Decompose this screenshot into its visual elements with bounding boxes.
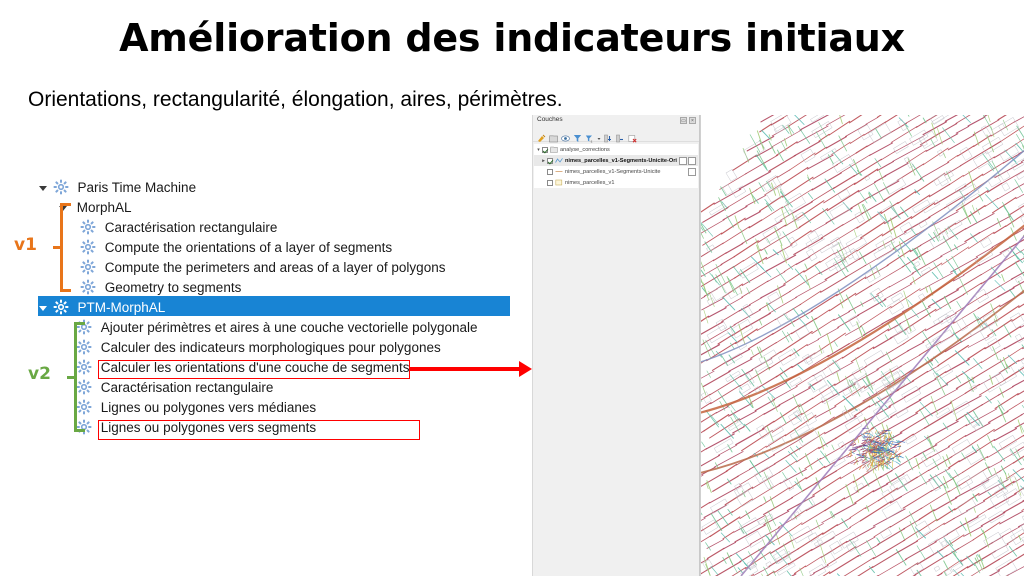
v2-bracket-top-cap — [74, 322, 85, 325]
layer-label: nimes_parcelles_v1-Segments-Unicite — [565, 169, 660, 175]
slide: Amélioration des indicateurs initiaux Or… — [0, 0, 1024, 576]
remove-layer-icon[interactable] — [628, 130, 637, 139]
gear-icon — [80, 279, 96, 295]
chevron-down-icon[interactable]: ▾ — [535, 147, 542, 153]
highlight-box-calculer-orientations — [98, 360, 410, 379]
layer-row-trailing-boxes[interactable] — [679, 157, 698, 165]
gear-icon — [53, 299, 69, 315]
chevron-right-icon[interactable]: ▸ — [540, 158, 547, 164]
layer-row-segments-unicite[interactable]: nimes_parcelles_v1-Segments-Unicite — [534, 166, 698, 177]
tree-item-compute-perimeters-areas-v1[interactable]: Compute the perimeters and areas of a la… — [0, 258, 530, 278]
layers-tree[interactable]: ▾ analyse_corrections ▸ nimes_parcelles_… — [534, 144, 698, 188]
expand-all-icon[interactable] — [604, 130, 613, 139]
filter-legend-icon[interactable] — [573, 130, 582, 139]
tree-item-compute-orientations-v1[interactable]: Compute the orientations of a layer of s… — [0, 238, 530, 258]
layer-visibility-checkbox[interactable] — [542, 147, 548, 153]
qgis-window: Couches ▭ × — [532, 115, 1024, 576]
tree-item-label: Compute the perimeters and areas of a la… — [105, 258, 446, 278]
v2-bracket-bottom-cap — [74, 429, 85, 432]
highlight-box-lignes-vers-segments — [98, 420, 420, 440]
layer-label: nimes_parcelles_v1 — [565, 180, 614, 186]
pointer-arrow-line — [410, 367, 522, 371]
layer-visibility-checkbox[interactable] — [547, 169, 553, 175]
float-panel-button[interactable]: ▭ — [680, 117, 687, 124]
gear-icon — [76, 339, 92, 355]
gear-icon — [76, 399, 92, 415]
map-canvas[interactable] — [700, 115, 1024, 576]
gear-icon — [76, 359, 92, 375]
pointer-arrow-head — [519, 361, 532, 377]
tree-item-paris-time-machine[interactable]: Paris Time Machine — [0, 178, 530, 198]
line-layer-icon — [555, 157, 563, 164]
polygon-layer-icon — [555, 179, 563, 186]
tree-item-label: PTM-MorphAL — [78, 298, 166, 318]
processing-toolbox-tree: Paris Time Machine MorphAL Caractérisati… — [0, 178, 530, 438]
v1-label: v1 — [14, 235, 37, 255]
layer-visibility-checkbox[interactable] — [547, 158, 553, 164]
layer-row-segments-unicite-orientation[interactable]: ▸ nimes_parcelles_v1-Segments-Unicite-Or… — [534, 155, 698, 166]
chevron-down-icon[interactable] — [38, 298, 49, 318]
gear-icon — [76, 419, 92, 435]
layers-panel: Couches ▭ × — [532, 115, 700, 576]
tree-item-label: Paris Time Machine — [78, 178, 197, 198]
styling-panel-icon[interactable] — [537, 130, 546, 139]
tree-item-label: Caractérisation rectangulaire — [101, 378, 274, 398]
chevron-down-icon[interactable] — [597, 130, 601, 139]
page-title: Amélioration des indicateurs initiaux — [0, 16, 1024, 60]
gear-icon — [80, 259, 96, 275]
layer-row-analyse-corrections[interactable]: ▾ analyse_corrections — [534, 144, 698, 155]
tree-item-geometry-to-segments-v1[interactable]: Geometry to segments — [0, 278, 530, 298]
tree-item-label: Compute the orientations of a layer of s… — [105, 238, 392, 258]
v1-bracket-bottom-cap — [60, 289, 71, 292]
gear-icon — [76, 379, 92, 395]
layer-visibility-checkbox[interactable] — [547, 180, 553, 186]
expression-filter-icon[interactable]: ε — [585, 130, 594, 139]
v1-bracket-tick — [53, 246, 61, 249]
layer-row-nimes-parcelles-v1[interactable]: nimes_parcelles_v1 — [534, 177, 698, 188]
tree-item-calculer-indicateurs-morphologiques[interactable]: Calculer des indicateurs morphologiques … — [0, 338, 530, 358]
svg-text:ε: ε — [591, 138, 593, 143]
layers-panel-title: Couches — [537, 116, 563, 123]
cadastral-parcels-orientation-map — [701, 115, 1024, 576]
tree-item-lignes-polygones-vers-medianes[interactable]: Lignes ou polygones vers médianes — [0, 398, 530, 418]
layers-panel-header: Couches ▭ × — [533, 115, 699, 128]
tree-item-label: MorphAL — [77, 198, 132, 218]
layer-row-trailing-boxes[interactable] — [688, 168, 698, 176]
tree-item-label: Calculer des indicateurs morphologiques … — [101, 338, 441, 358]
tree-item-caracterisation-rectangulaire-v1[interactable]: Caractérisation rectangulaire — [0, 218, 530, 238]
gear-icon — [80, 219, 96, 235]
tree-item-label: Lignes ou polygones vers médianes — [101, 398, 316, 418]
tree-item-label: Caractérisation rectangulaire — [105, 218, 278, 238]
v1-bracket-top-cap — [60, 203, 71, 206]
collapse-all-icon[interactable] — [616, 130, 625, 139]
line-layer-icon — [555, 168, 563, 175]
add-group-icon[interactable] — [549, 130, 558, 139]
gear-icon — [53, 179, 69, 195]
tree-item-ptm-morphal[interactable]: PTM-MorphAL — [0, 298, 530, 318]
manage-layer-visibility-icon[interactable] — [561, 130, 570, 139]
layers-panel-toolbar[interactable]: ε — [533, 128, 699, 142]
layer-label: analyse_corrections — [560, 147, 610, 153]
gear-icon — [80, 239, 96, 255]
tree-item-ajouter-perimetres-aires[interactable]: Ajouter périmètres et aires à une couche… — [0, 318, 530, 338]
tree-item-label: Geometry to segments — [105, 278, 242, 298]
chevron-down-icon[interactable] — [38, 178, 49, 198]
v2-label: v2 — [28, 364, 51, 384]
v2-bracket-tick — [67, 376, 75, 379]
tree-item-caracterisation-rectangulaire-v2[interactable]: Caractérisation rectangulaire — [0, 378, 530, 398]
page-subtitle: Orientations, rectangularité, élongation… — [28, 88, 563, 112]
close-panel-button[interactable]: × — [689, 117, 696, 124]
group-icon — [550, 146, 558, 153]
layer-label: nimes_parcelles_v1-Segments-Unicite-Orie… — [565, 158, 677, 164]
tree-item-morphal[interactable]: MorphAL — [0, 198, 530, 218]
tree-item-label: Ajouter périmètres et aires à une couche… — [101, 318, 478, 338]
layers-panel-buttons[interactable]: ▭ × — [680, 117, 696, 124]
